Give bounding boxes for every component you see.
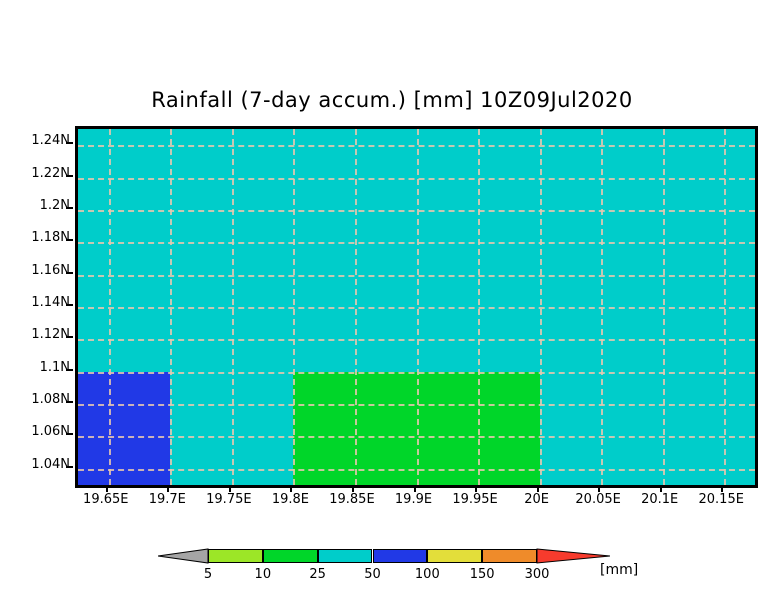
y-axis-tick-label: 1.2N (40, 198, 70, 213)
plot-canvas (78, 129, 755, 485)
x-axis-tick (229, 485, 231, 492)
plot-frame (75, 126, 758, 488)
gridline-horizontal (78, 372, 755, 374)
colorbar-tick-label: 100 (415, 567, 440, 582)
x-axis-tick (721, 485, 723, 492)
x-axis-tick-label: 19.75E (206, 492, 251, 507)
y-axis-tick-label: 1.14N (31, 295, 70, 310)
colorbar-band-under-5 (158, 549, 208, 563)
x-axis-tick (352, 485, 354, 492)
x-axis-tick-label: 19.65E (83, 492, 128, 507)
colorbar-band-over-300 (537, 549, 610, 563)
y-axis-tick-label: 1.08N (31, 392, 70, 407)
colorbar-band-100-150 (427, 549, 482, 563)
y-axis-tick-label: 1.06N (31, 424, 70, 439)
y-axis-tick-label: 1.22N (31, 166, 70, 181)
gridline-horizontal (78, 404, 755, 406)
x-axis-tick-label: 20.1E (641, 492, 678, 507)
x-axis-tick (167, 485, 169, 492)
colorbar-legend: 5102550100150300 [mm] (0, 540, 784, 600)
page-title: Rainfall (7-day accum.) [mm] 10Z09Jul202… (0, 88, 784, 112)
gridline-horizontal (78, 307, 755, 309)
colorbar-band-150-300 (482, 549, 537, 563)
x-axis-tick (475, 485, 477, 492)
y-axis-tick-label: 1.04N (31, 457, 70, 472)
gridline-horizontal (78, 436, 755, 438)
gridline-horizontal (78, 469, 755, 471)
y-axis-tick-label: 1.1N (40, 360, 70, 375)
x-axis-tick (537, 485, 539, 492)
colorbar-tick-label: 150 (470, 567, 495, 582)
gridline-horizontal (78, 242, 755, 244)
x-axis-tick (290, 485, 292, 492)
x-axis-tick-label: 19.8E (272, 492, 309, 507)
gridline-horizontal (78, 339, 755, 341)
colorbar-tick-label: 25 (309, 567, 326, 582)
x-axis-tick-label: 20.15E (699, 492, 744, 507)
y-axis-tick-label: 1.16N (31, 263, 70, 278)
x-axis-tick-label: 19.85E (329, 492, 374, 507)
x-axis-tick (106, 485, 108, 492)
x-axis-tick-label: 19.9E (395, 492, 432, 507)
x-axis-tick-label: 20.05E (575, 492, 620, 507)
x-axis-tick-label: 19.95E (452, 492, 497, 507)
x-axis-tick (660, 485, 662, 492)
gridline-horizontal (78, 275, 755, 277)
x-axis-tick (414, 485, 416, 492)
x-axis-tick-label: 20E (524, 492, 549, 507)
colorbar-band-25-50 (318, 549, 373, 563)
colorbar-bands: 5102550100150300 (158, 545, 610, 567)
y-axis-tick-label: 1.18N (31, 230, 70, 245)
x-axis-tick (598, 485, 600, 492)
gridline-horizontal (78, 178, 755, 180)
y-axis-tick-label: 1.12N (31, 327, 70, 342)
y-axis-tick-label: 1.24N (31, 133, 70, 148)
gridline-horizontal (78, 210, 755, 212)
colorbar-band-50-100 (373, 549, 428, 563)
x-axis-tick-label: 19.7E (149, 492, 186, 507)
gridline-horizontal (78, 145, 755, 147)
colorbar-band-10-25 (263, 549, 318, 563)
colorbar-tick-label: 300 (525, 567, 550, 582)
colorbar-tick-label: 5 (204, 567, 212, 582)
colorbar-unit-label: [mm] (600, 562, 638, 578)
colorbar-tick-label: 10 (255, 567, 272, 582)
colorbar-band-5-10 (208, 549, 263, 563)
colorbar-tick-label: 50 (364, 567, 381, 582)
